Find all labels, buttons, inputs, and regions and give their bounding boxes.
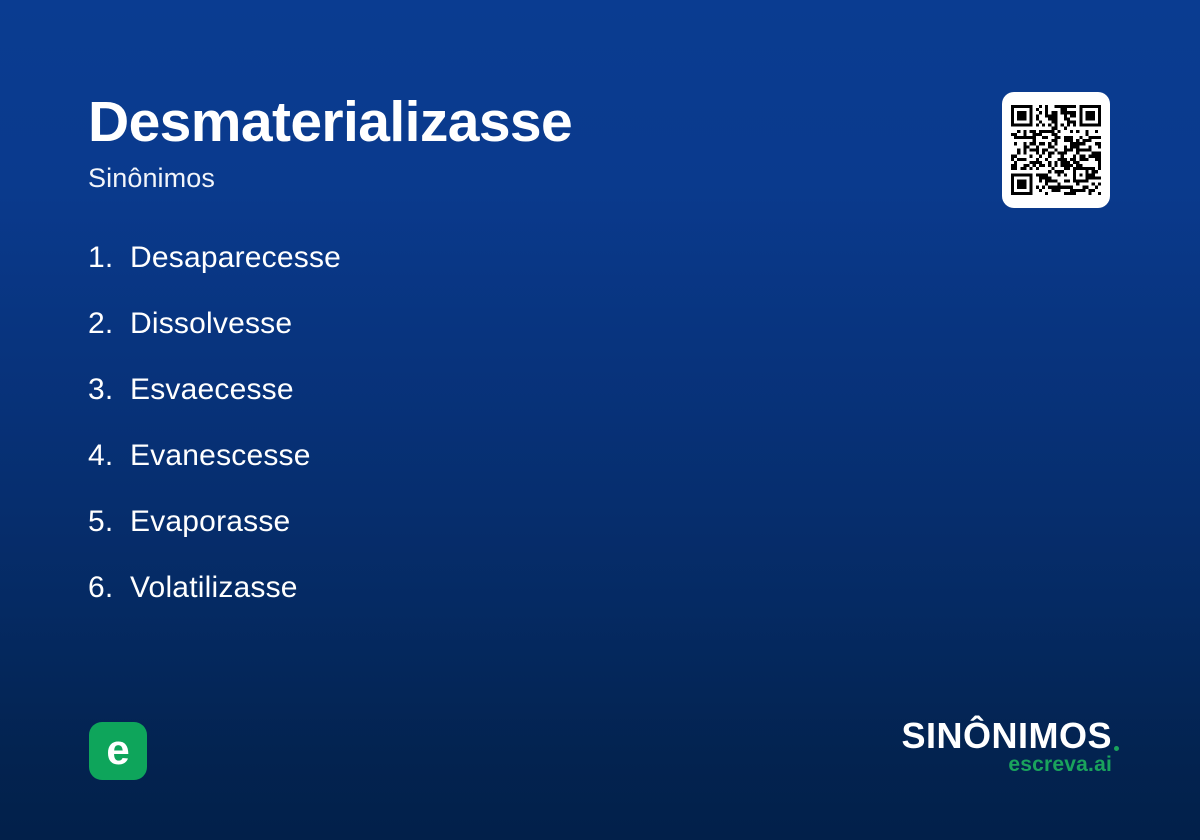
footer-wordmark: SINÔNIMOS bbox=[901, 716, 1112, 756]
list-item-number: 4. bbox=[88, 436, 130, 476]
qr-code-icon[interactable] bbox=[1011, 105, 1101, 195]
list-item-label: Esvaecesse bbox=[130, 373, 294, 406]
list-item-label: Evanescesse bbox=[130, 439, 311, 472]
synonyms-card: Desmaterializasse Sinônimos 1.Desaparece… bbox=[0, 0, 1200, 840]
list-item-number: 6. bbox=[88, 568, 130, 608]
list-item: 6.Volatilizasse bbox=[88, 568, 888, 634]
page-title: Desmaterializasse bbox=[88, 88, 948, 156]
list-item: 1.Desaparecesse bbox=[88, 238, 888, 304]
footer-wordmark-text: SINÔNIMOS bbox=[901, 715, 1112, 756]
list-item-label: Dissolvesse bbox=[130, 307, 292, 340]
green-dot-icon bbox=[1114, 746, 1119, 751]
list-item-label: Evaporasse bbox=[130, 505, 290, 538]
list-item: 4.Evanescesse bbox=[88, 436, 888, 502]
footer-tagline: escreva.ai bbox=[852, 753, 1112, 777]
list-item-label: Volatilizasse bbox=[130, 571, 298, 604]
brand-badge-icon: e bbox=[89, 722, 147, 780]
list-item-number: 3. bbox=[88, 370, 130, 410]
list-item: 2.Dissolvesse bbox=[88, 304, 888, 370]
list-item: 5.Evaporasse bbox=[88, 502, 888, 568]
footer-logo: SINÔNIMOS escreva.ai bbox=[852, 716, 1112, 777]
card-header: Desmaterializasse Sinônimos bbox=[88, 88, 948, 194]
page-subtitle: Sinônimos bbox=[88, 162, 948, 194]
list-item-number: 1. bbox=[88, 238, 130, 278]
list-item: 3.Esvaecesse bbox=[88, 370, 888, 436]
list-item-number: 5. bbox=[88, 502, 130, 542]
brand-badge-letter: e bbox=[106, 729, 129, 771]
list-item-label: Desaparecesse bbox=[130, 241, 341, 274]
qr-code-container[interactable] bbox=[1002, 92, 1110, 208]
synonyms-list: 1.Desaparecesse 2.Dissolvesse 3.Esvaeces… bbox=[88, 238, 888, 634]
list-item-number: 2. bbox=[88, 304, 130, 344]
